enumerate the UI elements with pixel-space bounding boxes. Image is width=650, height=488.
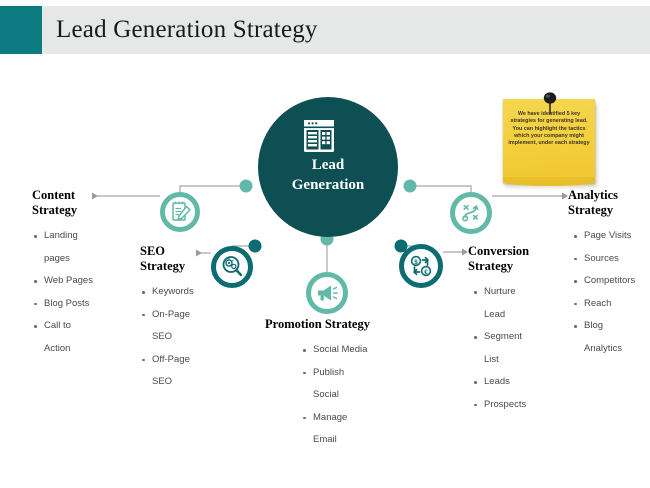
list-item: Page Visits (572, 225, 650, 248)
branch-item-list: Landing pages Web Pages Blog Posts Call … (32, 225, 124, 360)
svg-text:€: € (424, 269, 428, 276)
currency-exchange-icon: $ € (404, 249, 438, 283)
list-item: Prospects (472, 394, 568, 417)
branch-item-list: Social Media Publish Social Manage Email (301, 339, 390, 452)
branch-title: Analytics Strategy (568, 188, 650, 218)
promotion-strategy-icon-node[interactable] (306, 272, 348, 314)
branch-title: Promotion Strategy (265, 317, 390, 332)
list-item: Keywords (140, 281, 232, 304)
list-item: Competitors (572, 270, 650, 293)
list-item: Leads (472, 371, 568, 394)
sticky-note-curl (503, 177, 595, 186)
branch-content-strategy: Content Strategy Landing pages Web Pages… (32, 188, 124, 360)
connector-dot-content (240, 180, 253, 193)
list-item: Nurture Lead (472, 281, 568, 326)
list-item: Reach (572, 293, 650, 316)
pushpin-icon (539, 91, 561, 115)
webpage-layout-icon (300, 117, 338, 155)
center-node-label: Lead Generation (258, 155, 398, 195)
branch-conversion-strategy: Conversion Strategy Nurture Lead Segment… (468, 244, 568, 416)
list-item: Call to Action (32, 315, 124, 360)
slide-canvas: Lead Generation Strategy (0, 0, 650, 488)
list-item: On-Page SEO (140, 304, 232, 349)
connector-dot-seo (249, 240, 262, 253)
list-item: Landing pages (32, 225, 124, 270)
list-item: Publish Social (301, 362, 390, 407)
branch-promotion-strategy: Promotion Strategy Social Media Publish … (265, 317, 390, 452)
branch-analytics-strategy: Analytics Strategy Page Visits Sources C… (568, 188, 650, 360)
branch-title: Content Strategy (32, 188, 124, 218)
sticky-note-text: We have identified 5 key strategies for … (508, 111, 590, 147)
list-item: Manage Email (301, 407, 390, 452)
list-item: Off-Page SEO (140, 349, 232, 394)
branch-seo-strategy: SEO Strategy Keywords On-Page SEO Off-Pa… (140, 244, 232, 394)
svg-text:$: $ (414, 259, 418, 266)
connector-dot-analytics (404, 180, 417, 193)
list-item: Sources (572, 248, 650, 271)
sticky-note: We have identified 5 key strategies for … (503, 99, 597, 187)
branch-item-list: Keywords On-Page SEO Off-Page SEO (140, 281, 232, 394)
list-item: Social Media (301, 339, 390, 362)
notepad-pencil-icon (165, 197, 195, 227)
list-item: Blog Posts (32, 293, 124, 316)
branch-item-list: Page Visits Sources Competitors Reach Bl… (572, 225, 650, 360)
branch-title: SEO Strategy (140, 244, 232, 274)
analytics-strategy-icon-node[interactable] (450, 192, 492, 234)
branch-title: Conversion Strategy (468, 244, 568, 274)
content-strategy-icon-node[interactable] (160, 192, 200, 232)
strategy-playbook-icon (455, 197, 487, 229)
conversion-strategy-icon-node[interactable]: $ € (399, 244, 443, 288)
megaphone-icon (311, 277, 343, 309)
list-item: Web Pages (32, 270, 124, 293)
list-item: Segment List (472, 326, 568, 371)
list-item: Blog Analytics (572, 315, 650, 360)
branch-item-list: Nurture Lead Segment List Leads Prospect… (472, 281, 568, 416)
